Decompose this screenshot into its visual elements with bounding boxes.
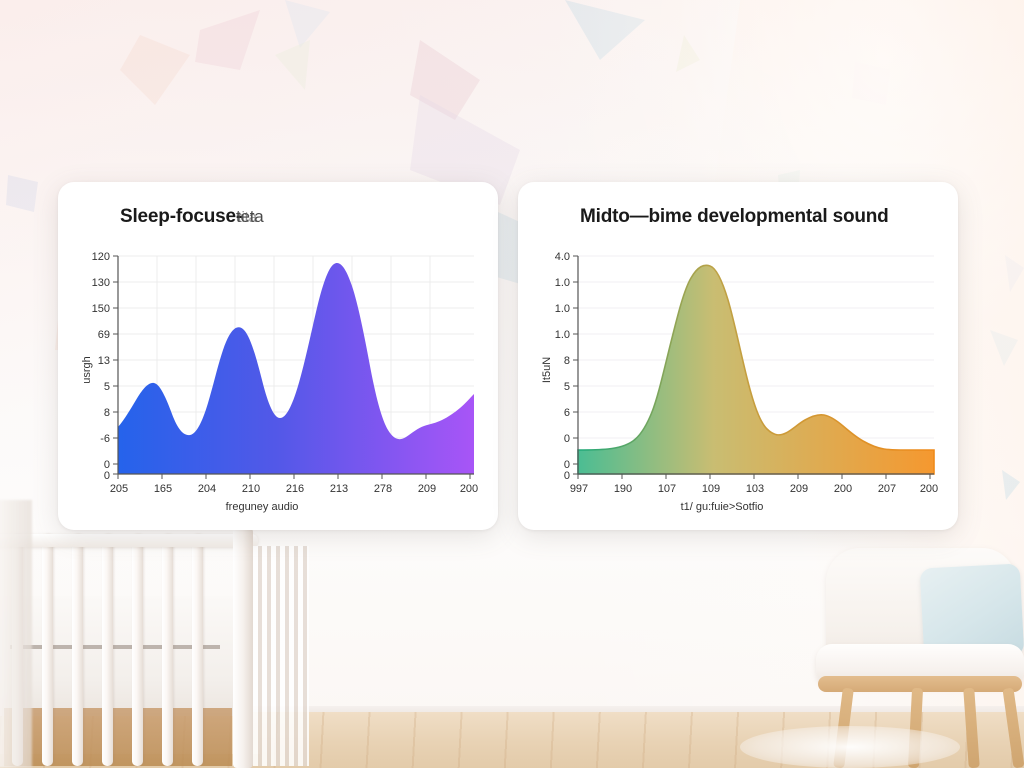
y-axis-label-right: It5uN <box>541 357 553 383</box>
y-tick-label: 0 <box>564 470 570 482</box>
chart-card-developmental-sound[interactable]: Midto—bime developmental sound <box>518 182 958 530</box>
y-tick-label: 1.0 <box>555 277 570 289</box>
crib-side-slats <box>253 546 309 766</box>
area-chart-left: 120 130 150 69 13 5 8 -6 0 0 <box>72 238 484 500</box>
floor-rug <box>740 726 960 768</box>
y-tick-label: 0 <box>104 470 110 482</box>
chart-title-left-ghost2: tita <box>238 209 257 226</box>
x-tick-label: 213 <box>330 483 348 495</box>
x-tick-label: 200 <box>460 483 478 495</box>
x-tick-label: 210 <box>242 483 260 495</box>
x-tick-label: 204 <box>198 483 216 495</box>
baby-crib <box>0 528 280 768</box>
chart-title-left: Sleep-focuse-tetatita <box>120 206 484 232</box>
chart-title-left-main: Sleep-focuse- <box>120 206 242 227</box>
x-tick-label: 216 <box>286 483 304 495</box>
area-chart-right: 4.0 1.0 1.0 1.0 8 5 6 0 0 0 <box>532 238 944 500</box>
y-tick-marks-left <box>113 256 118 474</box>
window-curtain <box>0 500 32 768</box>
crib-mattress <box>0 596 248 716</box>
x-tick-label: 103 <box>746 483 764 495</box>
nursery-scene: Sleep-focuse-tetatita <box>0 0 1024 768</box>
area-series-right <box>578 265 934 474</box>
y-tick-label: 69 <box>98 329 110 341</box>
y-tick-label: -6 <box>100 433 110 445</box>
y-tick-label: 120 <box>92 251 110 263</box>
chart-title-right-main: Midto—bime developmental sound <box>580 206 889 227</box>
x-tick-label: 200 <box>920 483 938 495</box>
x-tick-label: 278 <box>374 483 392 495</box>
x-tick-label: 997 <box>570 483 588 495</box>
x-tick-label: 207 <box>878 483 896 495</box>
y-axis-label-left: usrgh <box>81 356 93 384</box>
x-tick-label: 209 <box>418 483 436 495</box>
x-tick-label: 209 <box>790 483 808 495</box>
y-tick-label: 5 <box>104 381 110 393</box>
y-tick-label: 1.0 <box>555 303 570 315</box>
x-tick-label: 205 <box>110 483 128 495</box>
area-series-left <box>118 263 474 474</box>
y-tick-label: 8 <box>104 407 110 419</box>
y-tick-label: 4.0 <box>555 251 570 263</box>
y-tick-label: 6 <box>564 407 570 419</box>
y-tick-marks-right <box>573 256 578 474</box>
x-axis-label-wrap-left: freguney audio <box>72 496 484 522</box>
x-tick-marks-left <box>118 474 470 479</box>
y-tick-label: 0 <box>564 433 570 445</box>
chart-card-sleep-focus[interactable]: Sleep-focuse-tetatita <box>58 182 498 530</box>
y-tick-labels-right: 4.0 1.0 1.0 1.0 8 5 6 0 0 0 <box>555 251 570 482</box>
y-tick-label: 5 <box>564 381 570 393</box>
x-axis-label-wrap-right: t1/ gu:fuie>Sotfio <box>532 496 944 522</box>
x-tick-labels-right: 997 190 107 109 103 209 200 207 200 <box>570 483 938 495</box>
y-tick-label: 8 <box>564 355 570 367</box>
y-tick-label: 13 <box>98 355 110 367</box>
x-tick-label: 165 <box>154 483 172 495</box>
x-tick-label: 107 <box>658 483 676 495</box>
x-tick-labels-left: 205 165 204 210 216 213 278 209 200 <box>110 483 478 495</box>
y-tick-label: 1.0 <box>555 329 570 341</box>
x-tick-label: 109 <box>702 483 720 495</box>
chart-title-right: Midto—bime developmental sound <box>580 206 944 232</box>
x-axis-label-left: freguney audio <box>226 501 299 513</box>
plot-area-left: 120 130 150 69 13 5 8 -6 0 0 <box>72 238 484 500</box>
y-tick-label: 130 <box>92 277 110 289</box>
y-tick-label: 150 <box>92 303 110 315</box>
y-tick-labels-left: 120 130 150 69 13 5 8 -6 0 0 <box>92 251 110 482</box>
x-tick-label: 200 <box>834 483 852 495</box>
x-axis-label-right: t1/ gu:fuie>Sotfio <box>681 501 764 513</box>
x-tick-label: 190 <box>614 483 632 495</box>
plot-area-right: 4.0 1.0 1.0 1.0 8 5 6 0 0 0 <box>532 238 944 500</box>
